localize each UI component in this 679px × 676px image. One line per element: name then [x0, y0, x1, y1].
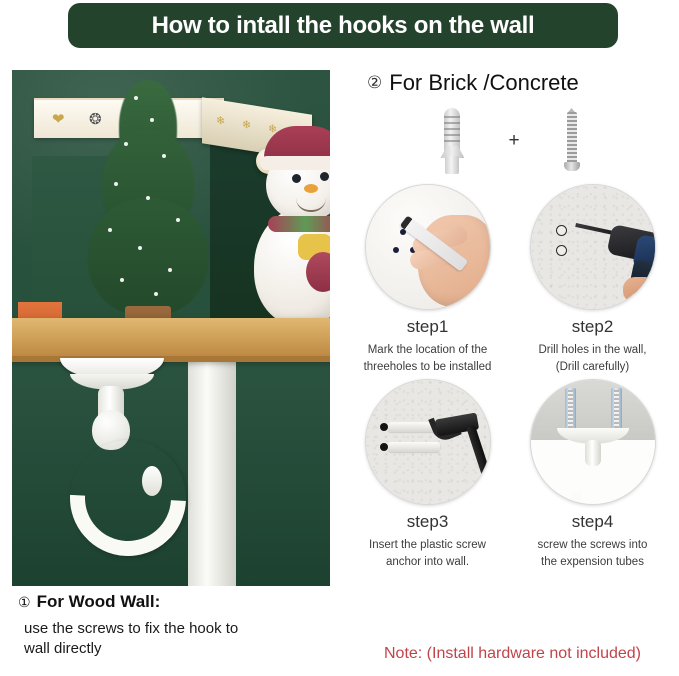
- photo-hook-tip: [142, 466, 162, 496]
- step1-illustration: [365, 184, 491, 310]
- photo-christmas-tree: [84, 78, 212, 348]
- photo-snowman: [252, 112, 330, 342]
- heart-icon: ❤: [52, 110, 65, 128]
- mark-dot-icon: [393, 247, 399, 253]
- wood-wall-section: ① For Wood Wall: use the screws to fix t…: [18, 592, 338, 660]
- step3-illustration: [365, 379, 491, 505]
- brick-step-number: ②: [367, 73, 382, 93]
- page-title: How to intall the hooks on the wall: [152, 12, 535, 40]
- step1-label: step1: [407, 317, 449, 337]
- brick-heading: ② For Brick /Concrete: [367, 70, 675, 96]
- plus-icon: +: [508, 130, 519, 152]
- anchor-in-wall-icon: [388, 442, 440, 452]
- step2-illustration: [530, 184, 656, 310]
- screw-icon: [614, 390, 619, 430]
- plastic-wall-anchor-icon: [440, 108, 464, 174]
- step-cell-4: step4 screw the screws into the expensio…: [510, 379, 675, 570]
- step-cell-2: step2 Drill holes in the wall, (Drill ca…: [510, 184, 675, 375]
- header-banner: How to intall the hooks on the wall: [68, 3, 618, 48]
- brick-concrete-section: ② For Brick /Concrete +: [345, 70, 675, 571]
- step3-label: step3: [407, 512, 449, 532]
- wood-wall-heading-label: For Wood Wall:: [37, 592, 161, 612]
- photo-wooden-shelf: [12, 318, 330, 360]
- step1-description: Mark the location of the threeholes to b…: [364, 342, 492, 375]
- brick-heading-label: For Brick /Concrete: [389, 70, 579, 96]
- drilled-hole-icon: [556, 225, 567, 236]
- step4-illustration: [530, 379, 656, 505]
- wood-wall-description: use the screws to fix the hook to wall d…: [24, 619, 338, 660]
- step-cell-3: step3 Insert the plastic screw anchor in…: [345, 379, 510, 570]
- step4-description: screw the screws into the expension tube…: [538, 537, 648, 570]
- product-lifestyle-photo: ❤ ❂ ❉ ❄ ❄ ❄: [12, 70, 330, 586]
- hardware-row: +: [345, 102, 675, 180]
- wood-wall-heading: ① For Wood Wall:: [18, 592, 338, 612]
- screw-icon: [568, 390, 573, 430]
- snowflake-icon: ❄: [242, 118, 251, 132]
- step-cell-1: step1 Mark the location of the threehole…: [345, 184, 510, 375]
- note-text: Note: (Install hardware not included): [350, 645, 675, 663]
- snowflake-icon: ❄: [216, 114, 225, 128]
- step3-description: Insert the plastic screw anchor into wal…: [369, 537, 486, 570]
- step2-label: step2: [572, 317, 614, 337]
- hand-icon: [623, 277, 656, 303]
- photo-white-pillar: [188, 362, 236, 586]
- steps-grid: step1 Mark the location of the threehole…: [345, 184, 675, 571]
- step4-label: step4: [572, 512, 614, 532]
- wood-step-number: ①: [18, 594, 31, 611]
- drilled-hole-icon: [556, 245, 567, 256]
- step2-description: Drill holes in the wall, (Drill carefull…: [538, 342, 646, 375]
- screw-icon: [564, 108, 580, 174]
